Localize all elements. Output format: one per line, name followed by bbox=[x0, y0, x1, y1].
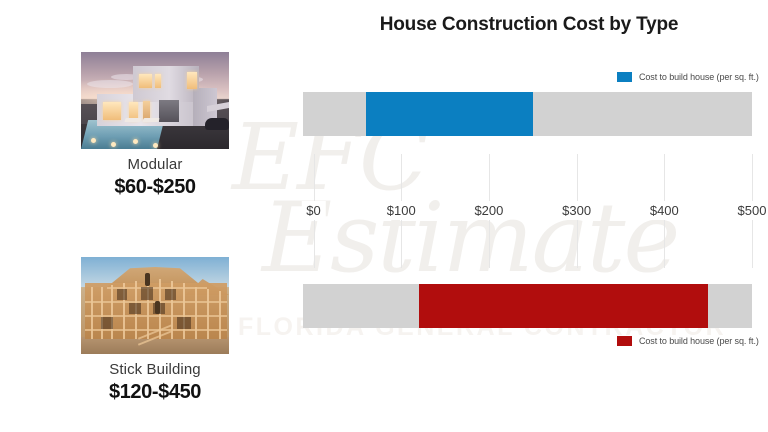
path-lamp bbox=[153, 143, 158, 148]
frame-opening bbox=[129, 303, 141, 314]
axis-tick-label: $200 bbox=[469, 201, 508, 220]
wall-stud bbox=[207, 289, 209, 339]
axis-tick-label: $0 bbox=[301, 201, 325, 220]
cloud-shape bbox=[87, 80, 133, 88]
construction-worker bbox=[155, 301, 160, 314]
construction-ground bbox=[81, 337, 229, 354]
chart-title: House Construction Cost by Type bbox=[290, 14, 768, 36]
frame-opening bbox=[117, 289, 127, 300]
wall-stud bbox=[195, 287, 197, 339]
red-legend-swatch bbox=[617, 336, 632, 346]
axis-tick-label: $400 bbox=[645, 201, 684, 220]
legend-label-modular: Cost to build house (per sq. ft.) bbox=[639, 72, 759, 82]
legend-label-stick-building: Cost to build house (per sq. ft.) bbox=[639, 336, 759, 346]
axis-tick-label: $300 bbox=[557, 201, 596, 220]
path-lamp bbox=[91, 138, 96, 143]
pool-lounger bbox=[142, 118, 159, 122]
x-axis: $0$100$200$300$400$500 bbox=[290, 154, 768, 268]
category-value-modular: $60-$250 bbox=[62, 176, 248, 199]
category-block-stick-building: Stick Building $120-$450 bbox=[62, 257, 248, 404]
blue-legend-swatch bbox=[617, 72, 632, 82]
axis-tick-label: $100 bbox=[382, 201, 421, 220]
lit-window bbox=[187, 72, 197, 89]
bar-track-stick-building bbox=[303, 284, 752, 328]
legend-stick-building: Cost to build house (per sq. ft.) bbox=[617, 336, 759, 346]
bar-fill-modular[interactable] bbox=[366, 92, 533, 136]
pool-lounger bbox=[124, 118, 141, 122]
path-lamp bbox=[133, 139, 138, 144]
lit-window bbox=[155, 74, 161, 88]
lit-window bbox=[103, 102, 121, 120]
parked-car bbox=[205, 118, 229, 130]
glass-door bbox=[159, 100, 179, 122]
construction-worker bbox=[145, 273, 150, 286]
bar-track-modular bbox=[303, 92, 752, 136]
category-value-stick-building: $120-$450 bbox=[62, 381, 248, 404]
wall-stud bbox=[91, 287, 93, 339]
legend-modular: Cost to build house (per sq. ft.) bbox=[617, 72, 759, 82]
modular-house-photo bbox=[81, 52, 229, 149]
frame-opening bbox=[101, 317, 113, 329]
category-name-modular: Modular bbox=[62, 156, 248, 173]
stick-building-photo bbox=[81, 257, 229, 354]
lit-window bbox=[139, 74, 152, 88]
frame-opening bbox=[165, 289, 176, 300]
bar-fill-stick-building[interactable] bbox=[419, 284, 708, 328]
chart-plot-area: Cost to build house (per sq. ft.) $0$100… bbox=[290, 46, 768, 416]
frame-opening bbox=[141, 287, 153, 300]
category-block-modular: Modular $60-$250 bbox=[62, 52, 248, 199]
axis-tick-label: $500 bbox=[733, 201, 768, 220]
frame-opening bbox=[177, 317, 191, 329]
path-lamp bbox=[111, 142, 116, 147]
category-name-stick-building: Stick Building bbox=[62, 361, 248, 378]
wall-stud bbox=[101, 287, 103, 339]
